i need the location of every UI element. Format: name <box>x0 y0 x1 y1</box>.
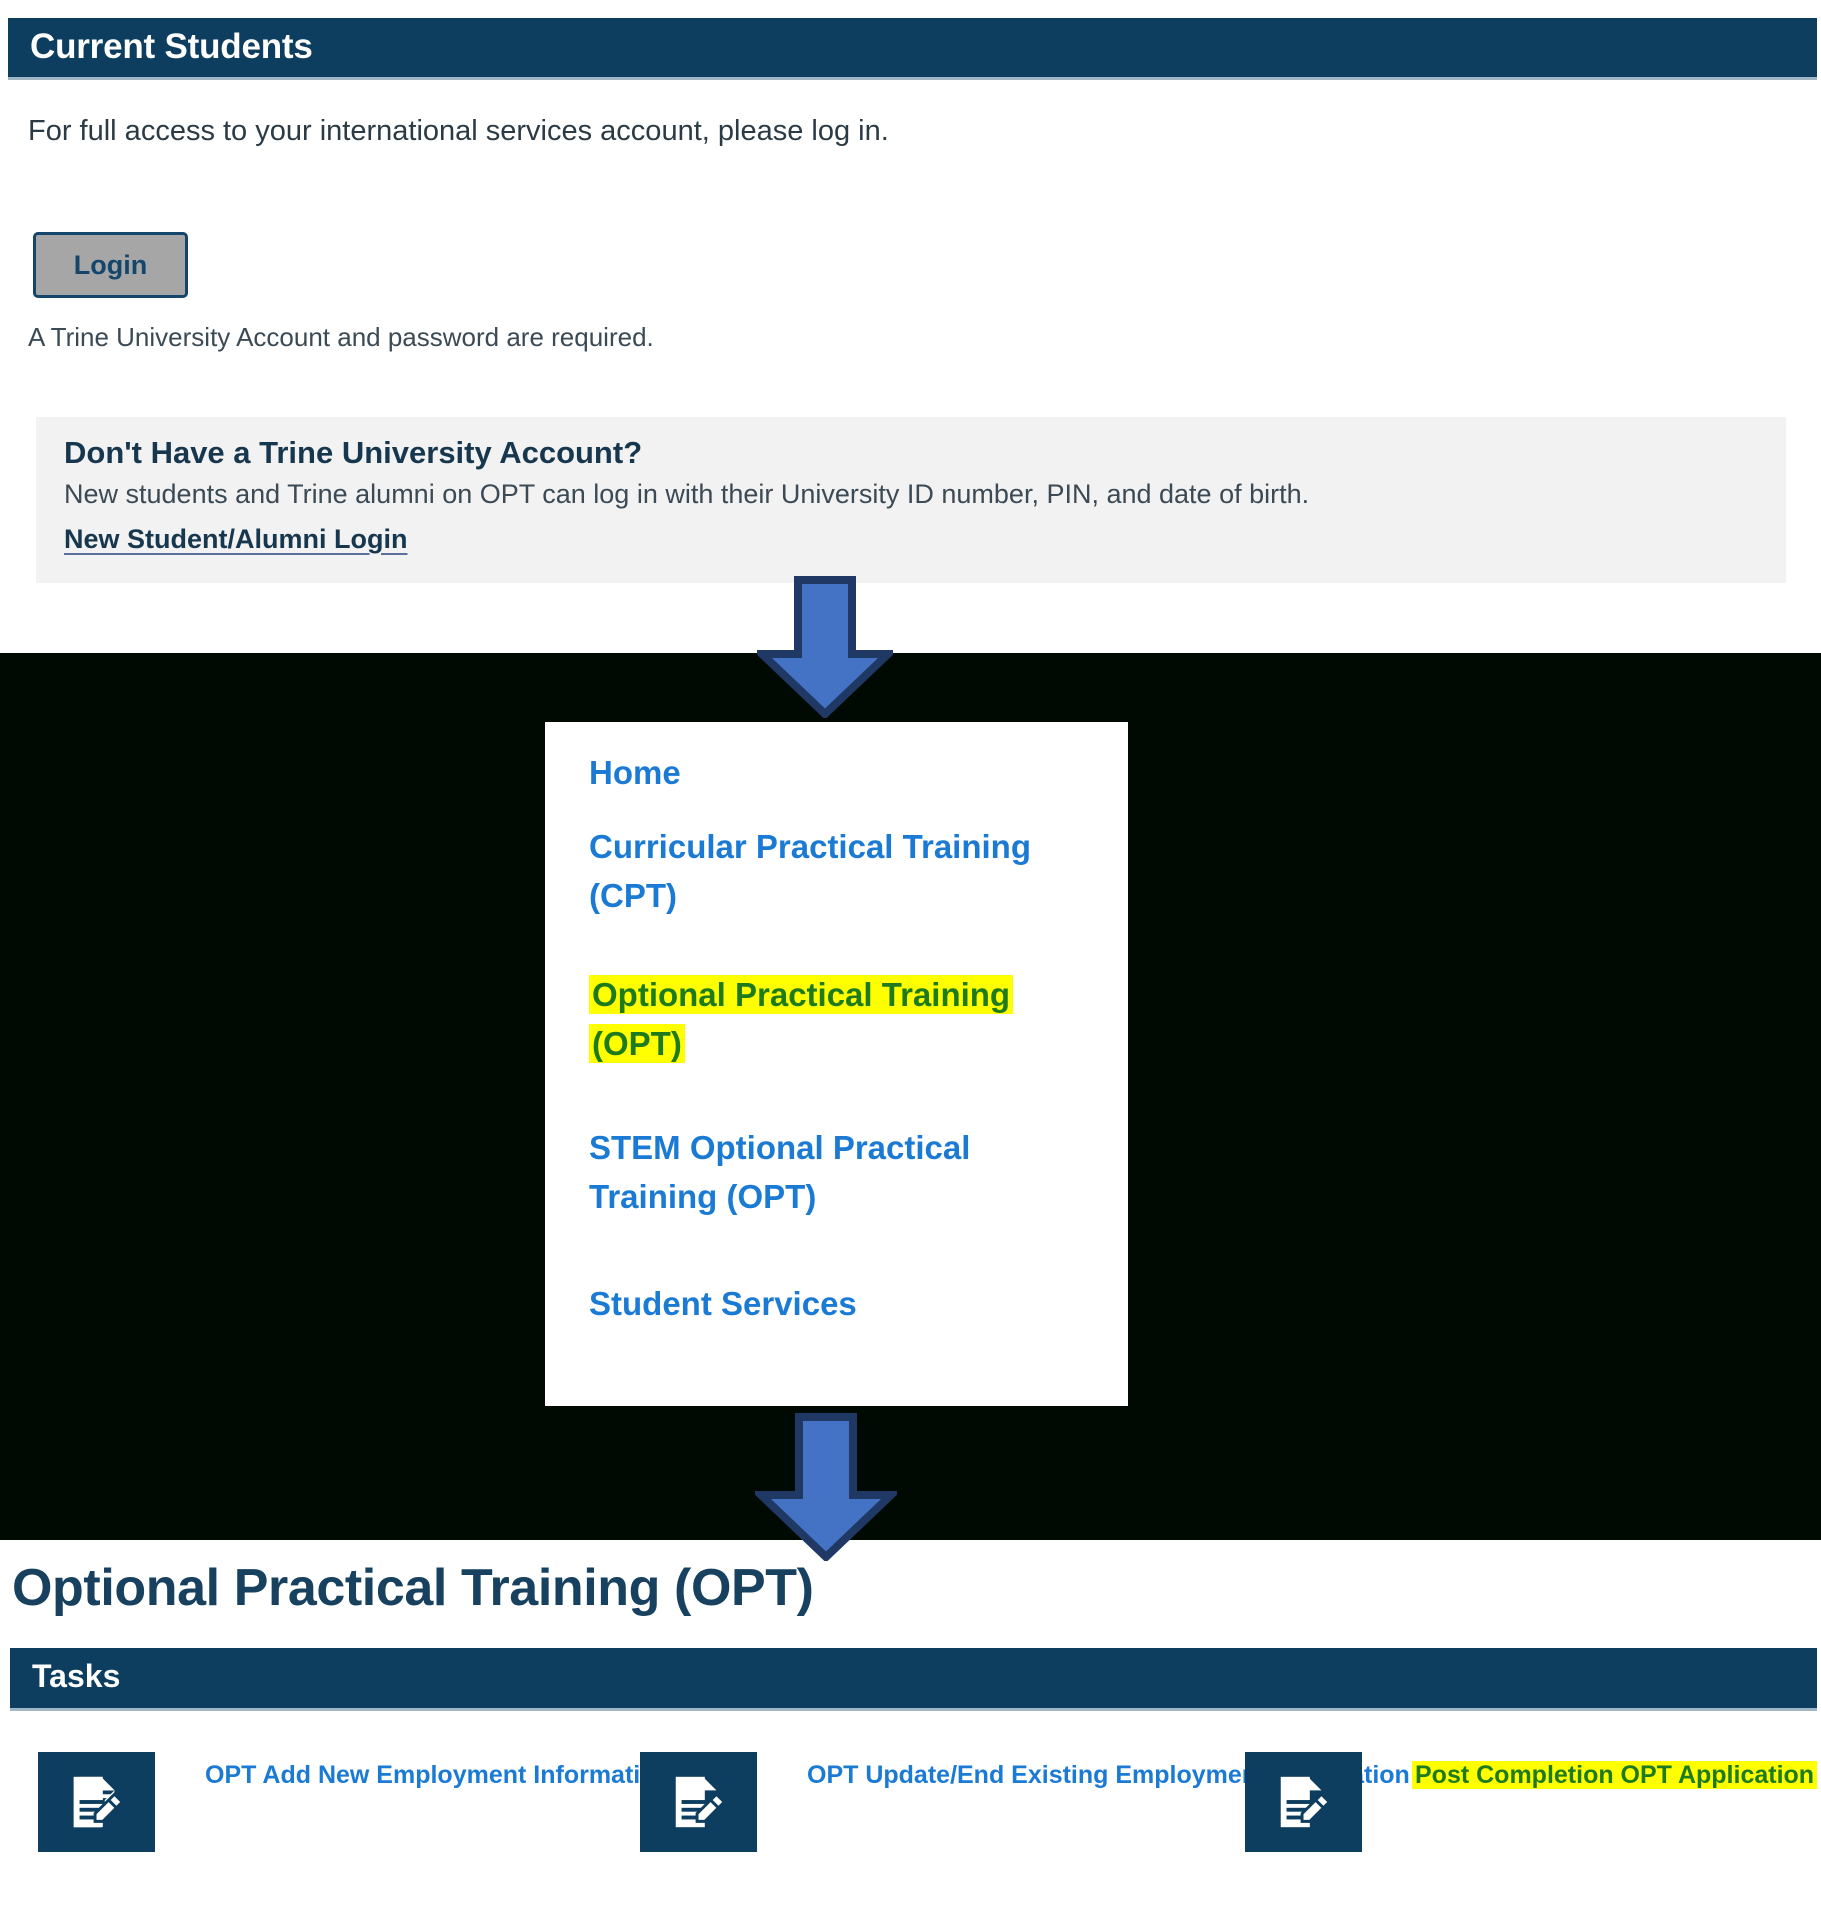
menu-item-opt[interactable]: Optional Practical Training (OPT) <box>589 971 1099 1069</box>
menu-item-cpt[interactable]: Curricular Practical Training (CPT) <box>589 823 1099 921</box>
current-students-panel: Current Students For full access to your… <box>0 0 1821 653</box>
task-label[interactable]: OPT Add New Employment Information <box>205 1758 671 1793</box>
menu-item-student-services-label: Student Services <box>589 1285 857 1322</box>
no-account-title: Don't Have a Trine University Account? <box>64 435 642 471</box>
task-label-text: OPT Add New Employment Information <box>205 1761 671 1789</box>
login-button[interactable]: Login <box>33 232 188 298</box>
menu-item-home[interactable]: Home <box>589 749 1099 798</box>
opt-page-panel: Optional Practical Training (OPT) Tasks … <box>0 1540 1821 1918</box>
no-account-info-box: Don't Have a Trine University Account? N… <box>36 417 1786 583</box>
menu-item-opt-label: Optional Practical Training (OPT) <box>589 975 1013 1063</box>
intro-text: For full access to your international se… <box>28 115 889 148</box>
current-students-header-bar: Current Students <box>8 18 1817 80</box>
arrow-down-to-menu-icon <box>757 576 893 718</box>
arrow-down-to-opt-page-icon <box>755 1413 897 1561</box>
tasks-header-bar: Tasks <box>10 1648 1817 1711</box>
document-edit-icon <box>38 1752 155 1852</box>
side-navigation-card: Home Curricular Practical Training (CPT)… <box>545 722 1128 1406</box>
menu-item-student-services[interactable]: Student Services <box>589 1280 1099 1329</box>
no-account-description: New students and Trine alumni on OPT can… <box>64 479 1309 510</box>
login-note: A Trine University Account and password … <box>28 322 654 353</box>
task-item[interactable]: OPT Add New Employment Information <box>38 1752 671 1852</box>
tasks-header-label: Tasks <box>32 1658 120 1695</box>
opt-page-title: Optional Practical Training (OPT) <box>12 1558 814 1618</box>
document-edit-icon <box>640 1752 757 1852</box>
menu-item-stem-opt[interactable]: STEM Optional Practical Training (OPT) <box>589 1124 1099 1222</box>
task-label-text: Post Completion OPT Application <box>1412 1761 1817 1789</box>
task-label[interactable]: Post Completion OPT Application <box>1412 1758 1817 1793</box>
document-edit-icon <box>1245 1752 1362 1852</box>
menu-item-home-label: Home <box>589 754 681 791</box>
page-title: Current Students <box>30 27 313 67</box>
menu-item-cpt-label: Curricular Practical Training (CPT) <box>589 828 1031 914</box>
menu-screenshot-band: Home Curricular Practical Training (CPT)… <box>0 653 1821 1540</box>
new-student-alumni-login-link[interactable]: New Student/Alumni Login <box>64 524 407 555</box>
menu-item-stem-opt-label: STEM Optional Practical Training (OPT) <box>589 1129 970 1215</box>
task-item[interactable]: Post Completion OPT Application <box>1245 1752 1817 1852</box>
